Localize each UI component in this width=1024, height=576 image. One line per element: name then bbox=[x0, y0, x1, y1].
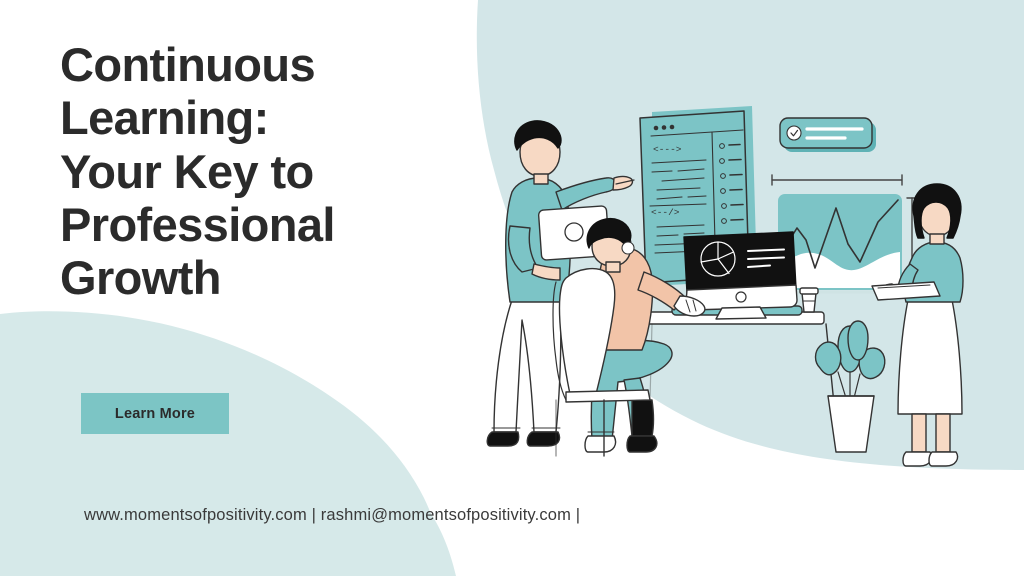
hand bbox=[613, 177, 632, 191]
footer-contact-text: www.momentsofpositivity.com | rashmi@mom… bbox=[84, 506, 580, 525]
shoe bbox=[903, 452, 932, 466]
shoe bbox=[487, 432, 518, 446]
learn-more-button[interactable]: Learn More bbox=[81, 393, 229, 434]
shoe bbox=[627, 436, 657, 452]
shoe bbox=[585, 436, 616, 452]
shoe bbox=[527, 432, 559, 446]
shoe bbox=[929, 452, 958, 466]
tablet-icon bbox=[872, 282, 940, 300]
potted-plant bbox=[816, 321, 885, 452]
code-tag-close: <--/> bbox=[651, 207, 680, 218]
coffee-cup bbox=[800, 288, 818, 312]
notification-card bbox=[780, 118, 876, 152]
window-dot bbox=[662, 125, 667, 130]
window-dot bbox=[654, 126, 659, 131]
window-dot bbox=[670, 125, 675, 130]
page-title: Continuous Learning: Your Key to Profess… bbox=[60, 38, 460, 305]
marketing-banner: <---> <--/> bbox=[0, 0, 1024, 576]
check-circle-icon bbox=[787, 126, 801, 140]
glasses-icon bbox=[622, 242, 634, 254]
code-tag-open: <---> bbox=[653, 144, 682, 155]
